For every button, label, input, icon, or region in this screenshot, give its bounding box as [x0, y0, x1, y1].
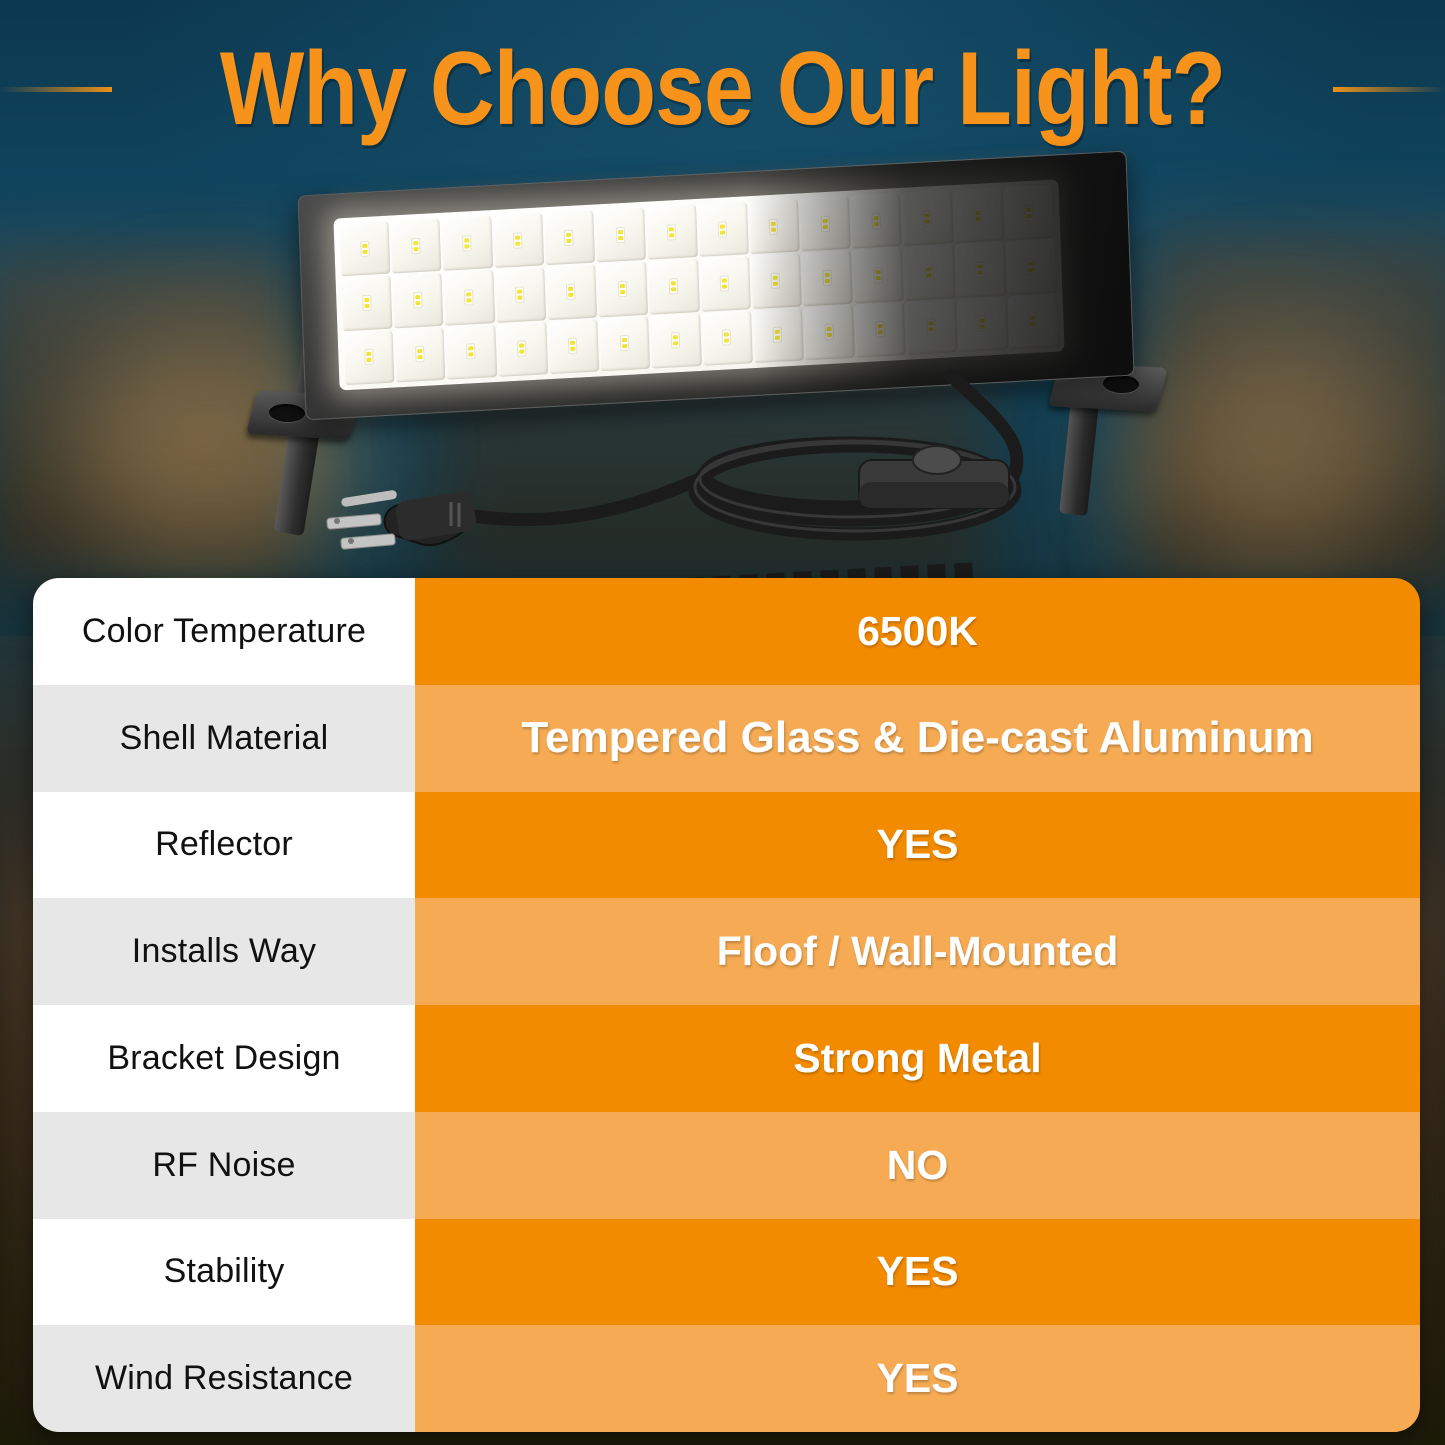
spec-label: Color Temperature: [33, 578, 415, 685]
led-chip: [545, 264, 597, 320]
table-row: RF NoiseNO: [33, 1112, 1420, 1219]
led-smd-icon: [464, 289, 474, 305]
spec-value: YES: [415, 1219, 1420, 1326]
cord-to-plug: [473, 480, 697, 520]
led-smd-icon: [615, 227, 625, 243]
title-row: Why Choose Our Light?: [0, 34, 1445, 144]
led-smd-icon: [617, 281, 627, 297]
led-smd-icon: [513, 232, 523, 248]
page-title: Why Choose Our Light?: [220, 37, 1225, 141]
table-row: Wind ResistanceYES: [33, 1325, 1420, 1432]
table-row: StabilityYES: [33, 1219, 1420, 1326]
led-chip: [543, 210, 595, 266]
led-smd-icon: [362, 295, 372, 311]
led-chip: [492, 212, 544, 268]
spec-label: Installs Way: [33, 898, 415, 1005]
infographic-canvas: Why Choose Our Light?: [0, 0, 1445, 1445]
spec-value: 6500K: [415, 578, 1420, 685]
led-smd-icon: [515, 286, 525, 302]
led-smd-icon: [462, 235, 472, 251]
led-chip: [596, 261, 648, 317]
led-smd-icon: [413, 292, 423, 308]
us-three-prong-plug: [327, 490, 478, 550]
led-chip: [698, 256, 750, 312]
table-row: Bracket DesignStrong Metal: [33, 1005, 1420, 1112]
switch-rocker-button: [913, 446, 961, 474]
inline-rocker-switch[interactable]: [859, 446, 1009, 508]
led-chip: [443, 269, 495, 325]
led-smd-icon: [720, 275, 730, 291]
led-smd-icon: [669, 278, 679, 294]
led-chip: [645, 204, 697, 260]
spec-label: Wind Resistance: [33, 1325, 415, 1432]
spec-label: Stability: [33, 1219, 415, 1326]
spec-table: Color Temperature6500KShell MaterialTemp…: [33, 578, 1420, 1432]
power-cord-assembly: [245, 330, 1195, 590]
spec-label: Bracket Design: [33, 1005, 415, 1112]
led-chip: [390, 218, 442, 274]
spec-value: Strong Metal: [415, 1005, 1420, 1112]
spec-value: YES: [415, 792, 1420, 899]
spec-label: Shell Material: [33, 685, 415, 792]
spec-value: YES: [415, 1325, 1420, 1432]
led-chip: [339, 221, 391, 277]
plug-prong-ground: [341, 490, 398, 508]
led-chip: [341, 275, 393, 331]
led-chip: [392, 272, 444, 328]
led-smd-icon: [566, 284, 576, 300]
led-smd-icon: [667, 224, 677, 240]
spec-label: RF Noise: [33, 1112, 415, 1219]
led-chip: [594, 207, 646, 263]
led-chip: [697, 201, 749, 257]
decorative-dash-right-icon: [1333, 87, 1445, 92]
table-row: ReflectorYES: [33, 792, 1420, 899]
table-row: Shell MaterialTempered Glass & Die-cast …: [33, 685, 1420, 792]
led-chip: [441, 215, 493, 271]
table-row: Color Temperature6500K: [33, 578, 1420, 685]
led-smd-icon: [360, 240, 370, 256]
led-chip: [647, 258, 699, 314]
spec-value: Tempered Glass & Die-cast Aluminum: [415, 685, 1420, 792]
decorative-dash-left-icon: [0, 87, 112, 92]
spec-value: NO: [415, 1112, 1420, 1219]
led-smd-icon: [564, 229, 574, 245]
led-chip: [494, 267, 546, 323]
spec-value: Floof / Wall-Mounted: [415, 898, 1420, 1005]
spec-label: Reflector: [33, 792, 415, 899]
table-row: Installs WayFloof / Wall-Mounted: [33, 898, 1420, 1005]
led-smd-icon: [718, 221, 728, 237]
led-smd-icon: [411, 238, 421, 254]
